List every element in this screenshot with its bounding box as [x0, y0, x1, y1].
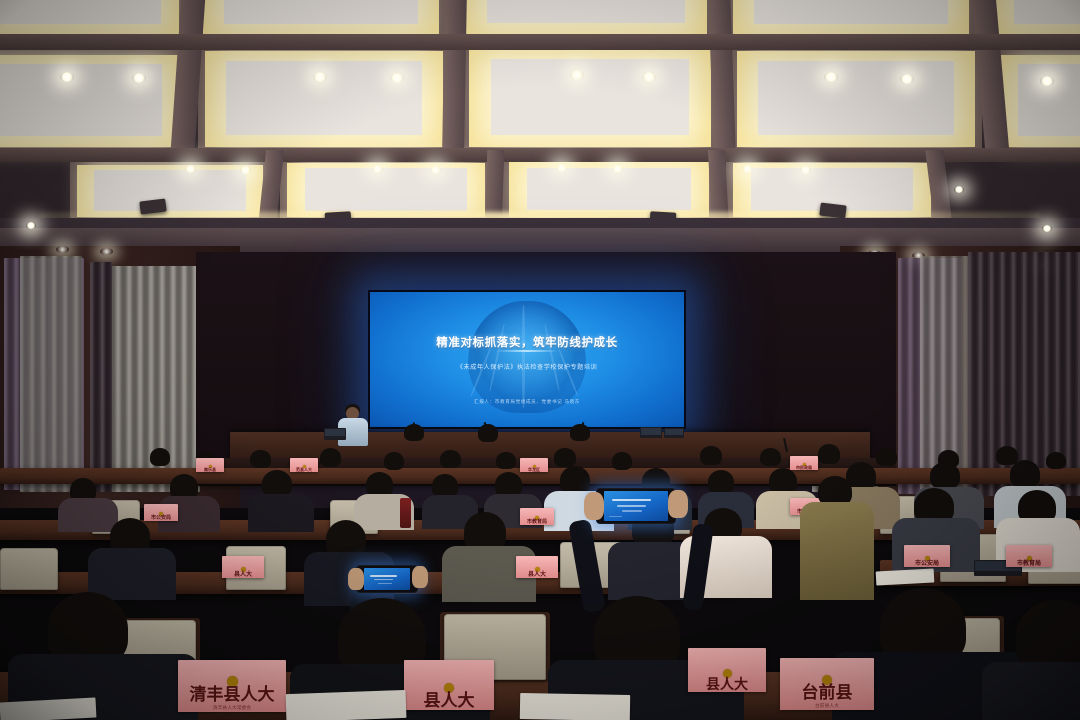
- hand-left: [348, 568, 364, 590]
- curtain-left-gray-1: [20, 256, 82, 492]
- nameplate-taiqian: 台前县 台前县人大: [780, 658, 874, 710]
- nameplate: 市教育局: [1006, 545, 1052, 567]
- wall-downlight-icon: [56, 246, 69, 253]
- slide-title-rule: [496, 350, 558, 352]
- downlight-icon: [742, 165, 753, 173]
- smartphone-recording-center[interactable]: [596, 488, 676, 524]
- stage-laptop-right-2[interactable]: [664, 428, 684, 438]
- downlight-icon: [390, 73, 404, 83]
- nameplate-subtext: 台前县人大: [815, 704, 839, 709]
- nameplate-subtext: 清丰县人大常委会: [213, 706, 251, 711]
- nameplate: 县人大: [222, 556, 264, 578]
- wall-downlight-icon: [100, 248, 113, 255]
- nameplate: 华龙区: [520, 458, 548, 472]
- nameplate: 市公安局: [904, 545, 950, 567]
- nameplate-text: 台前县: [802, 685, 853, 702]
- nameplate: 县人大: [688, 648, 766, 692]
- slide-subtitle: 《未成年人保护法》执法检查学校保护专题培训: [370, 362, 684, 371]
- ceiling-beam-v2: [442, 0, 468, 160]
- nameplate-xian-renda: 县人大: [404, 660, 494, 710]
- downlight-icon: [132, 73, 146, 83]
- smartphone-recording-left[interactable]: [356, 565, 418, 593]
- ceiling-panel-mid-2: [198, 44, 450, 154]
- document-paper: [520, 693, 630, 720]
- downlight-icon: [26, 222, 36, 229]
- phone-screen: [364, 568, 410, 590]
- downlight-icon: [313, 72, 327, 82]
- nameplate: 县人大: [516, 556, 558, 578]
- hand-right: [668, 490, 688, 518]
- downlight-icon: [612, 165, 623, 173]
- projection-screen-surface: 精准对标抓落实，筑牢防线护成长 《未成年人保护法》执法检查学校保护专题培训 汇报…: [370, 292, 684, 427]
- downlight-icon: [1040, 76, 1054, 86]
- audience-person: [554, 448, 576, 467]
- audience-person: [250, 450, 271, 468]
- document-paper: [286, 690, 407, 720]
- downlight-icon: [556, 164, 567, 172]
- stage-seated-person: [404, 424, 424, 441]
- downlight-icon: [1042, 225, 1052, 232]
- curtain-left-dark: [90, 262, 112, 492]
- downlight-icon: [900, 74, 914, 84]
- audience-person: [760, 448, 781, 466]
- nameplate: 市民政局: [790, 456, 818, 470]
- stage-seated-person: [478, 424, 498, 442]
- slide-background-graphic: [468, 301, 586, 413]
- nameplate-text: 县人大: [424, 693, 475, 710]
- nameplate-qingfeng: 清丰县人大 清丰县人大常委会: [178, 660, 286, 712]
- downlight-icon: [800, 166, 811, 174]
- stage-laptop-right[interactable]: [640, 427, 662, 438]
- nameplate: 范县人大: [290, 458, 318, 472]
- downlight-icon: [185, 165, 196, 173]
- audience-person: [700, 446, 722, 465]
- downlight-icon: [642, 72, 656, 82]
- document-paper: [0, 698, 96, 720]
- audience-person: [612, 452, 632, 470]
- phone-screen: [604, 491, 668, 521]
- audience-person: [496, 452, 516, 469]
- presenter-laptop[interactable]: [324, 428, 346, 440]
- nameplate-text: 清丰县人大: [190, 687, 275, 704]
- ceiling-panel-mid-1: [0, 48, 188, 154]
- ceiling-panel-mid-4: [730, 44, 982, 154]
- nameplate: 市公安局: [144, 504, 178, 521]
- ceiling-beam-h1: [0, 34, 1080, 50]
- audience-person: [440, 450, 461, 468]
- conference-hall-photo: 精准对标抓落实，筑牢防线护成长 《未成年人保护法》执法检查学校保护专题培训 汇报…: [0, 0, 1080, 720]
- downlight-icon: [824, 72, 838, 82]
- slide-presenter-line: 汇报人：市教育局党组成员、党委书记 马晓东: [370, 399, 684, 405]
- hand-left: [584, 492, 604, 520]
- chair: [0, 548, 58, 590]
- downlight-icon: [372, 165, 383, 173]
- downlight-icon: [60, 72, 74, 82]
- thermos-cup: [400, 498, 411, 528]
- audience-person: [1046, 452, 1066, 469]
- slide-title: 精准对标抓落实，筑牢防线护成长: [370, 334, 684, 350]
- projection-screen[interactable]: 精准对标抓落实，筑牢防线护成长 《未成年人保护法》执法检查学校保护专题培训 汇报…: [368, 290, 686, 429]
- audience-person: [150, 448, 170, 466]
- nameplate: 南乐县: [196, 458, 224, 472]
- downlight-icon: [240, 166, 251, 174]
- downlight-icon: [430, 166, 441, 174]
- downlight-icon: [954, 186, 964, 193]
- downlight-icon: [570, 70, 584, 80]
- ceiling-beam-h2: [0, 148, 1080, 162]
- audience-person: [876, 448, 897, 466]
- nameplate: 市教育局: [520, 508, 554, 525]
- stage-seated-person: [570, 424, 590, 441]
- audience-person: [384, 452, 404, 470]
- hand-right: [412, 566, 428, 588]
- ceiling-panel-mid-3: [462, 42, 718, 154]
- ceiling: [0, 0, 1080, 250]
- audience-person: [818, 444, 840, 464]
- audience-person: [320, 448, 341, 467]
